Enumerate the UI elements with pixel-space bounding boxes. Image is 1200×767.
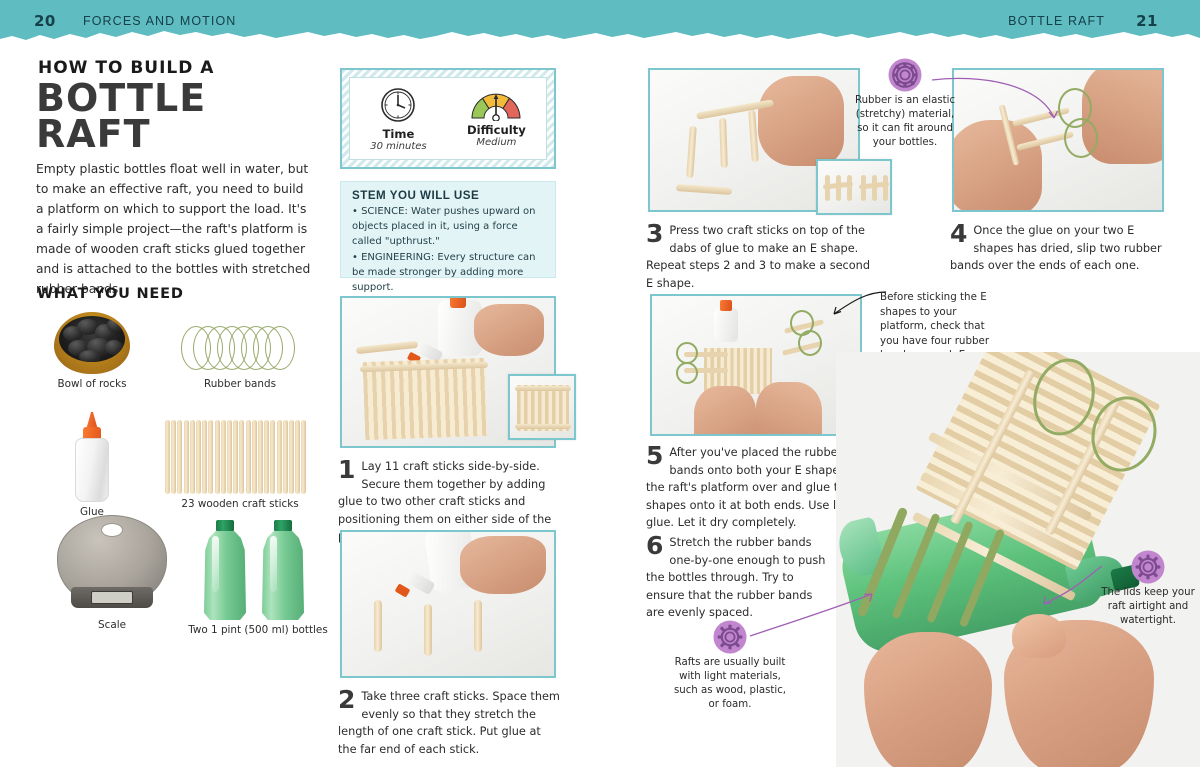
page-number-right: 21: [1136, 12, 1158, 30]
callout-lids-airtight: The lids keep your raft airtight and wat…: [1098, 550, 1198, 628]
step-2-number: 2: [338, 689, 355, 712]
stem-you-will-use-box: STEM YOU WILL USE • SCIENCE: Water pushe…: [340, 181, 556, 278]
photo-step3-inset-e-shapes: [816, 159, 892, 215]
bowl-of-rocks-icon: [54, 312, 130, 374]
torn-paper-edge: [0, 30, 1200, 46]
intro-column: HOW TO BUILD A BOTTLE RAFT Empty plastic…: [36, 58, 328, 300]
step-4-number: 4: [950, 223, 967, 246]
material-caption: Two 1 pint (500 ml) bottles: [184, 624, 332, 637]
callout-text: Rafts are usually built with light mater…: [668, 656, 792, 712]
material-bottles: Two 1 pint (500 ml) bottles: [184, 520, 332, 637]
intro-paragraph: Empty plastic bottles float well in wate…: [36, 160, 312, 299]
info-time: Time 30 minutes: [370, 86, 426, 152]
photo-step1-inset-platform: [508, 374, 576, 440]
step-5-number: 5: [646, 445, 663, 468]
gear-icon: [888, 58, 922, 92]
material-caption: Scale: [50, 619, 174, 632]
clock-icon: [379, 86, 417, 124]
project-info-box: Time 30 minutes Difficulty Medium: [340, 68, 556, 169]
craft-sticks-icon: [165, 420, 315, 494]
stem-item-engineering: • ENGINEERING: Every structure can be ma…: [352, 250, 545, 296]
rubber-bands-icon: [181, 322, 299, 374]
material-rubber-bands: Rubber bands: [166, 322, 314, 391]
info-time-label: Time: [370, 127, 426, 141]
step-1-number: 1: [338, 459, 355, 482]
photo-step2-glue-three-sticks: [340, 530, 556, 678]
gear-icon: [713, 620, 747, 654]
gear-icon: [1131, 550, 1165, 584]
step-3: 3 Press two craft sticks on top of the d…: [646, 222, 872, 292]
step-4: 4 Once the glue on your two E shapes has…: [950, 222, 1176, 275]
kitchen-scale-icon: [57, 515, 167, 615]
step-3-text: Press two craft sticks on top of the dab…: [646, 222, 872, 292]
stem-item-science: • SCIENCE: Water pushes upward on object…: [352, 204, 545, 250]
step-4-text: Once the glue on your two E shapes has d…: [950, 222, 1176, 275]
title-kicker: HOW TO BUILD A: [38, 58, 328, 78]
info-difficulty-label: Difficulty: [467, 123, 526, 137]
page-number-left: 20: [34, 12, 56, 30]
photo-step4-rubber-bands-on-e: [952, 68, 1164, 212]
step-6-text: Stretch the rubber bands one-by-one enou…: [646, 534, 828, 622]
step-2-text: Take three craft sticks. Space them even…: [338, 688, 560, 758]
material-craft-sticks: 23 wooden craft sticks: [154, 420, 326, 511]
material-glue: Glue: [58, 410, 126, 519]
page-title: BOTTLE RAFT: [36, 80, 328, 152]
info-time-value: 30 minutes: [370, 141, 426, 152]
step-2: 2 Take three craft sticks. Space them ev…: [338, 688, 560, 758]
material-scale: Scale: [50, 515, 174, 632]
material-caption: 23 wooden craft sticks: [154, 498, 326, 511]
info-difficulty: Difficulty Medium: [467, 90, 526, 148]
photo-step5-glue-e-to-platform: [650, 294, 862, 436]
callout-rubber-elastic: Rubber is an elastic (stretchy) material…: [850, 58, 960, 150]
material-caption: Rubber bands: [166, 378, 314, 391]
materials-grid: Bowl of rocks Rubber bands Glue: [36, 300, 336, 700]
step-6-number: 6: [646, 535, 663, 558]
difficulty-gauge-icon: [468, 90, 524, 120]
material-caption: Bowl of rocks: [44, 378, 140, 391]
chapter-title-right: BOTTLE RAFT: [1008, 14, 1105, 28]
page-header: 20 FORCES AND MOTION BOTTLE RAFT 21: [0, 0, 1200, 42]
chapter-title-left: FORCES AND MOTION: [83, 14, 236, 28]
callout-rafts-light-materials: Rafts are usually built with light mater…: [668, 620, 792, 712]
callout-text: The lids keep your raft airtight and wat…: [1098, 586, 1198, 628]
stem-box-title: STEM YOU WILL USE: [352, 189, 545, 202]
glue-bottle-icon: [72, 410, 112, 502]
step-3-number: 3: [646, 223, 663, 246]
step-6: 6 Stretch the rubber bands one-by-one en…: [646, 534, 828, 622]
callout-text: Rubber is an elastic (stretchy) material…: [850, 94, 960, 150]
info-difficulty-value: Medium: [467, 137, 526, 148]
material-bowl-of-rocks: Bowl of rocks: [44, 312, 140, 391]
plastic-bottles-icon: [204, 520, 312, 620]
